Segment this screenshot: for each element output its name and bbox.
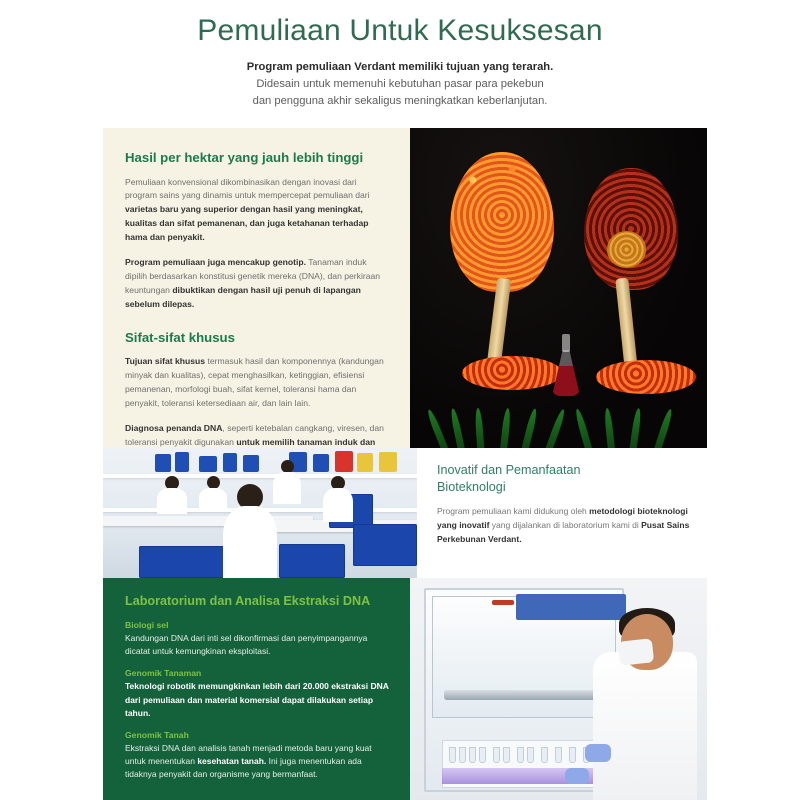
text-soil-genomics: Ekstraksi DNA dan analisis tanah menjadi…	[125, 742, 390, 782]
subhead-soil-genomics: Genomik Tanah	[125, 730, 390, 740]
paragraph-yield: Pemuliaan konvensional dikombinasikan de…	[125, 176, 390, 246]
page-header: Pemuliaan Untuk Kesuksesan Program pemul…	[0, 0, 800, 111]
section-heading-yield: Hasil per hektar yang jauh lebih tinggi	[125, 150, 390, 167]
dna-lab-item-soil-genomics: Genomik Tanah Ekstraksi DNA dan analisis…	[125, 730, 390, 782]
subtitle-line-3: dan pengguna akhir sekaligus meningkatka…	[185, 93, 615, 110]
face-mask-icon	[618, 638, 654, 665]
poster-page: Pemuliaan Untuk Kesuksesan Program pemul…	[0, 0, 800, 800]
subhead-plant-genomics: Genomik Tanaman	[125, 668, 390, 678]
flask-neck	[562, 334, 570, 352]
page-title: Pemuliaan Untuk Kesuksesan	[0, 14, 800, 49]
oil-palm-fruit-photo	[410, 128, 707, 448]
technician-lab-coat	[593, 652, 697, 800]
palm-oil-flask-icon	[552, 334, 580, 396]
hood-indicator-light	[492, 600, 514, 605]
text-plant-genomics: Teknologi robotik memungkinkan lebih dar…	[125, 680, 390, 720]
dna-extraction-photo	[410, 578, 707, 800]
paragraph-yield-part2: varietas baru yang superior dengan hasil…	[125, 204, 369, 242]
biotech-heading: Inovatif dan Pemanfaatan Bioteknologi	[437, 462, 707, 496]
fruit-bunch-orange	[450, 152, 554, 292]
palm-frond-row	[410, 408, 707, 448]
paragraph-dna-part1: Diagnosa penanda DNA	[125, 423, 222, 433]
loose-fruit-pile-left	[462, 356, 562, 390]
dna-lab-panel: Laboratorium dan Analisa Ekstraksi DNA B…	[103, 578, 410, 800]
flask-bulb	[552, 350, 580, 396]
biotech-para-part3: yang dijalankan di laboratorium kami di	[489, 520, 641, 530]
paragraph-genotype-part1: Program pemuliaan juga mencakup genotip.	[125, 257, 306, 267]
content-grid: Hasil per hektar yang jauh lebih tinggi …	[103, 128, 707, 800]
technician-glove-left	[585, 744, 611, 762]
paragraph-traits-part1: Tujuan sifat khusus	[125, 356, 205, 366]
laboratory-photo	[103, 448, 417, 578]
paragraph-traits: Tujuan sifat khusus termasuk hasil dan k…	[125, 355, 390, 411]
subhead-cell-biology: Biologi sel	[125, 620, 390, 630]
section-heading-traits: Sifat-sifat khusus	[125, 330, 390, 347]
biotech-heading-line-2: Bioteknologi	[437, 480, 506, 494]
biotech-paragraph: Program pemuliaan kami didukung oleh met…	[437, 505, 707, 546]
dna-lab-item-plant-genomics: Genomik Tanaman Teknologi robotik memung…	[125, 668, 390, 720]
dna-lab-item-cell-biology: Biologi sel Kandungan DNA dari inti sel …	[125, 620, 390, 658]
loose-fruit-pile-right	[596, 360, 696, 394]
robotic-arm	[444, 690, 612, 700]
technician-glove-right	[565, 768, 589, 784]
text-plant-genomics-body: Teknologi robotik memungkinkan lebih dar…	[125, 681, 389, 717]
photo-backdrop	[410, 128, 707, 448]
hood-control-unit	[516, 594, 626, 620]
text-cell-biology: Kandungan DNA dari inti sel dikonfirmasi…	[125, 632, 390, 658]
text-soil-part2: kesehatan tanah.	[197, 756, 266, 766]
fruit-bunch-dark	[584, 168, 678, 290]
breeding-text-panel: Hasil per hektar yang jauh lebih tinggi …	[103, 128, 410, 448]
biotech-para-part1: Program pemuliaan kami didukung oleh	[437, 506, 589, 516]
biotech-text-block: Inovatif dan Pemanfaatan Bioteknologi Pr…	[437, 462, 707, 578]
paragraph-genotype: Program pemuliaan juga mencakup genotip.…	[125, 256, 390, 312]
subtitle-lead: Program pemuliaan Verdant memiliki tujua…	[185, 59, 615, 76]
subtitle-line-2: Didesain untuk memenuhi kebutuhan pasar …	[185, 76, 615, 93]
dna-lab-title: Laboratorium dan Analisa Ekstraksi DNA	[125, 594, 390, 608]
biotech-heading-line-1: Inovatif dan Pemanfaatan	[437, 463, 581, 477]
paragraph-yield-part1: Pemuliaan konvensional dikombinasikan de…	[125, 177, 370, 201]
page-subtitle: Program pemuliaan Verdant memiliki tujua…	[185, 59, 615, 111]
